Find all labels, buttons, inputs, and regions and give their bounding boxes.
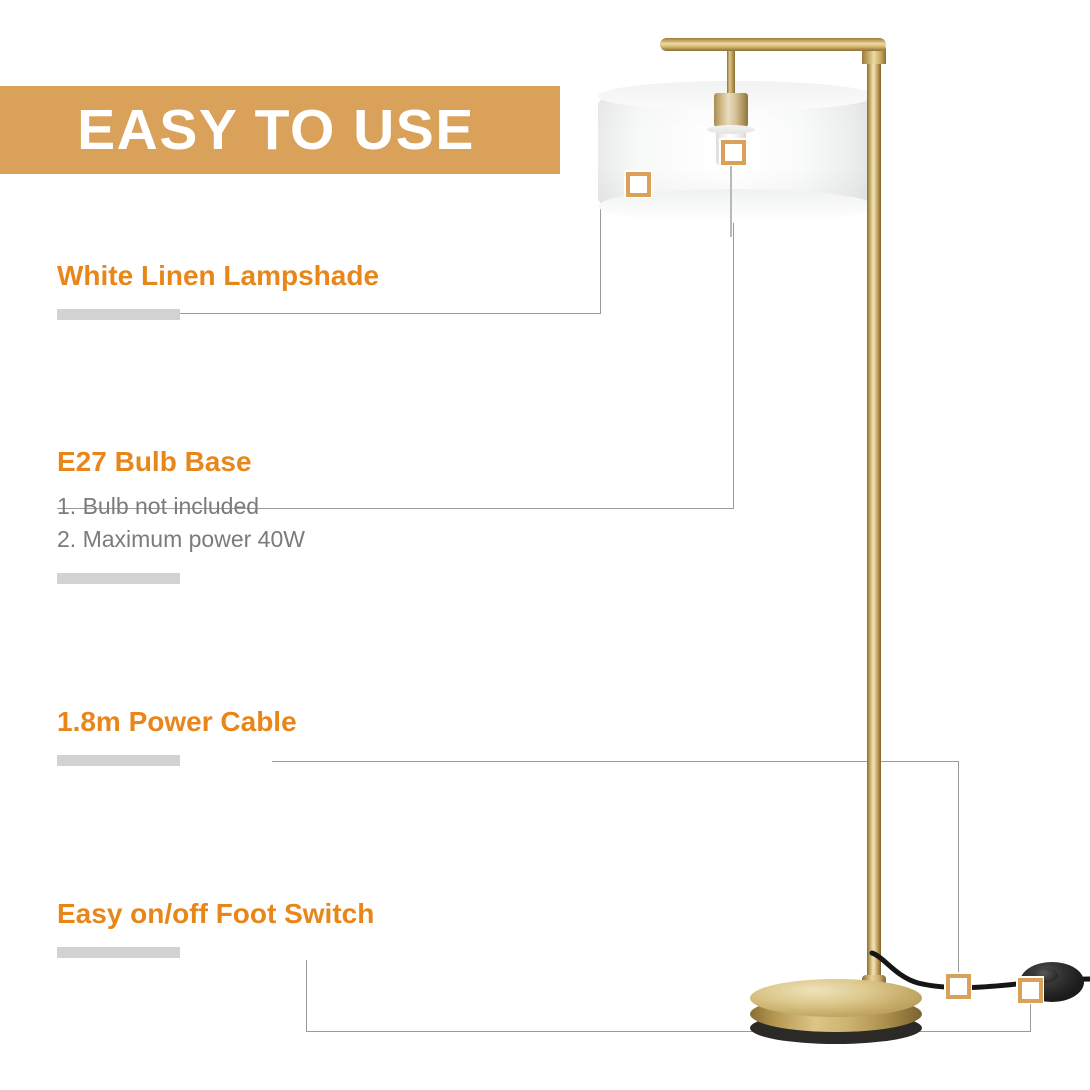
- leader-cable-horizontal: [272, 761, 959, 762]
- header-banner: EASY TO USE: [0, 86, 560, 174]
- bulb-socket-lip: [707, 125, 755, 134]
- feature-subline-bulb-2: 2. Maximum power 40W: [57, 523, 305, 556]
- page-title: EASY TO USE: [77, 102, 475, 159]
- feature-block-bulb-base: E27 Bulb Base 1. Bulb not included 2. Ma…: [57, 446, 305, 584]
- marker-power-cable-icon[interactable]: [944, 972, 972, 1000]
- socket-hanging-wire: [730, 162, 732, 237]
- feature-block-lampshade: White Linen Lampshade: [57, 260, 379, 320]
- lamp-pole: [867, 44, 881, 990]
- feature-title-bulb-base: E27 Bulb Base: [57, 446, 305, 478]
- leader-switch-horizontal: [306, 1031, 1031, 1032]
- infographic-canvas: EASY TO USE: [0, 0, 1090, 1090]
- feature-title-power-cable: 1.8m Power Cable: [57, 706, 297, 738]
- leader-switch-vertical-left: [306, 960, 307, 1031]
- feature-block-foot-switch: Easy on/off Foot Switch: [57, 898, 374, 958]
- lamp-arm-horizontal: [660, 38, 886, 51]
- feature-block-power-cable: 1.8m Power Cable: [57, 706, 297, 766]
- feature-title-foot-switch: Easy on/off Foot Switch: [57, 898, 374, 930]
- feature-rule-foot-switch: [57, 947, 180, 958]
- feature-subline-bulb-1: 1. Bulb not included: [57, 490, 305, 523]
- bulb-socket-brass-cap: [714, 93, 748, 127]
- feature-rule-power-cable: [57, 755, 180, 766]
- marker-bulb-socket-icon[interactable]: [719, 138, 747, 166]
- marker-lampshade-icon[interactable]: [624, 170, 652, 198]
- feature-rule-bulb-base: [57, 573, 180, 584]
- feature-rule-lampshade: [57, 309, 180, 320]
- marker-foot-switch-icon[interactable]: [1016, 976, 1044, 1004]
- feature-title-lampshade: White Linen Lampshade: [57, 260, 379, 292]
- lamp-drop-rod: [727, 48, 735, 96]
